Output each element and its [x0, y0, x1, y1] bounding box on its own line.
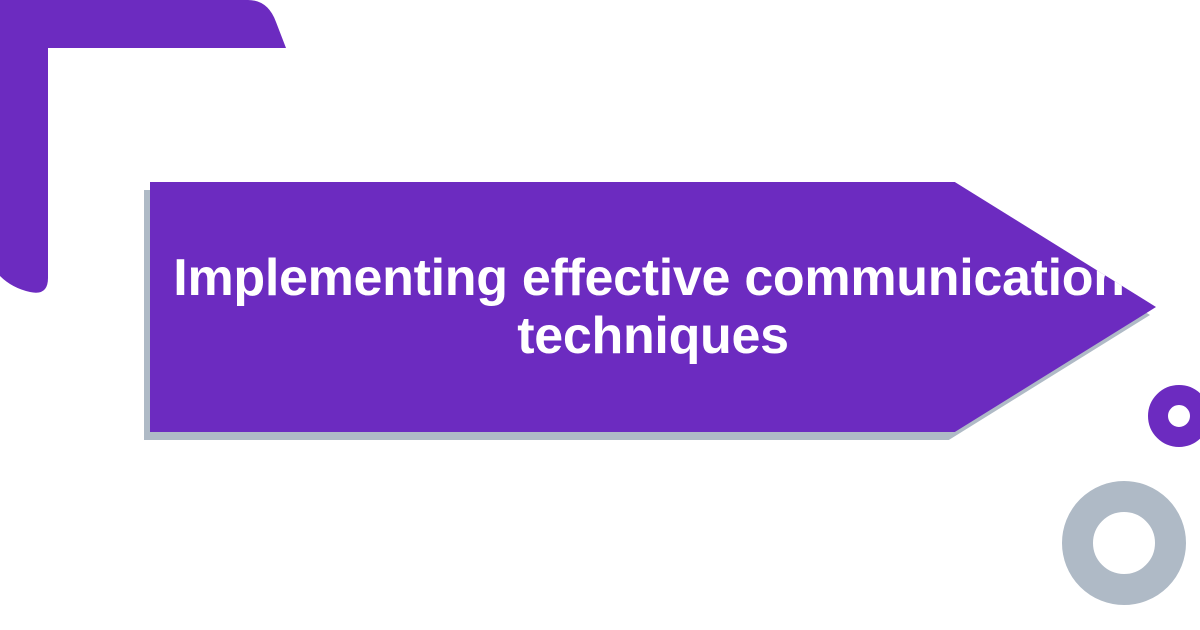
page-title: Implementing effective communication tec…: [150, 249, 1156, 365]
ring-grey-icon: [1062, 481, 1186, 605]
page-title-line-2: techniques: [150, 307, 1156, 365]
title-banner: Implementing effective communication tec…: [144, 182, 1160, 440]
banner-arrow-shape: Implementing effective communication tec…: [150, 182, 1156, 432]
page-title-line-1: Implementing effective communication: [150, 249, 1156, 307]
banner-canvas: Implementing effective communication tec…: [0, 0, 1200, 630]
